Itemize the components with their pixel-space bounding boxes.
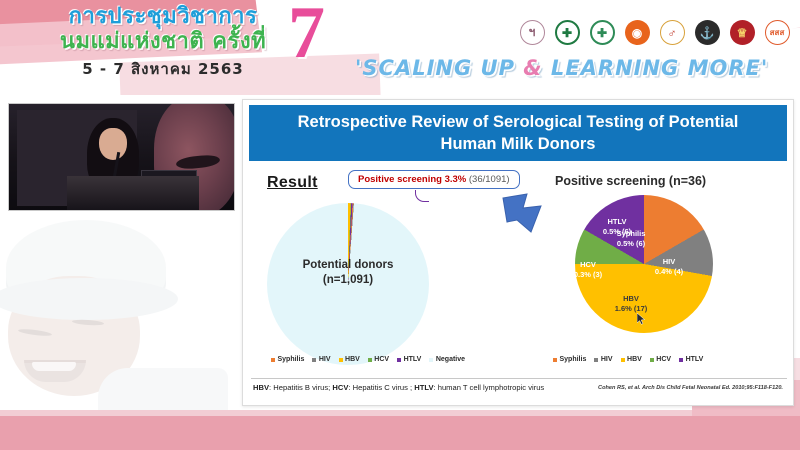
royal-garuda-emblem-logo: ♂ — [657, 20, 687, 54]
legend-positive-screening: Syphilis HIV HBV HCV HTLV — [553, 356, 703, 363]
potential-donors-line1: Potential donors — [267, 258, 429, 273]
conference-title-line2: นมแม่แห่งชาติ ครั้งที่ — [18, 29, 308, 54]
presentation-screen: การประชุมวิชาการ นมแม่แห่งชาติ ครั้งที่ … — [0, 0, 800, 450]
slide-title: Retrospective Review of Serological Test… — [249, 105, 787, 161]
result-heading: Result — [267, 174, 318, 192]
baby-watermark-image — [0, 212, 232, 436]
legend-item-htlv-right: HTLV — [679, 356, 703, 363]
callout-percentage: Positive screening 3.3% — [358, 174, 466, 185]
legend-item-hcv-right: HCV — [650, 356, 671, 363]
positive-screening-callout: Positive screening 3.3% (36/1091) — [348, 170, 520, 189]
red-crest-logo: ♕ — [727, 20, 757, 54]
mouse-cursor-icon — [637, 313, 646, 325]
conference-header-banner: การประชุมวิชาการ นมแม่แห่งชาติ ครั้งที่ … — [0, 0, 800, 95]
edition-number: 7 — [288, 0, 325, 70]
tagline-part2: LEARNING MORE' — [543, 56, 769, 80]
slice-label-hbv: HBV1.6% (17) — [601, 294, 661, 313]
speaker-face — [99, 128, 127, 160]
blue-arrow-icon — [501, 190, 547, 236]
department-health-logo: ✚ — [587, 20, 617, 54]
slice-label-hiv: HIV0.4% (4) — [643, 257, 695, 276]
conference-title-line1: การประชุมวิชาการ — [18, 4, 308, 29]
presentation-slide: Retrospective Review of Serological Test… — [242, 99, 794, 406]
abbreviation-footnote: HBV: Hepatitis B virus; HCV: Hepatitis C… — [253, 383, 544, 392]
tagline-ampersand: & — [523, 56, 542, 80]
positive-screening-chart-title: Positive screening (n=36) — [555, 174, 706, 188]
legend-item-hbv-right: HBV — [621, 356, 642, 363]
legend-item-negative: Negative — [429, 356, 465, 363]
legend-item-hiv-right: HIV — [594, 356, 612, 363]
potential-donors-line2: (n=1,091) — [267, 273, 429, 288]
legend-potential-donors: Syphilis HIV HBV HCV HTLV Negative — [271, 356, 465, 363]
royal-patronage-logo: ฯ — [517, 20, 547, 54]
conference-date: 5 - 7 สิงหาคม 2563 — [18, 57, 308, 81]
ministry-public-health-logo: ✚ — [552, 20, 582, 54]
legend-item-hbv: HBV — [339, 356, 360, 363]
legend-item-htlv: HTLV — [397, 356, 421, 363]
speaker-video-thumbnail[interactable] — [8, 103, 235, 211]
potential-donors-pie-label: Potential donors (n=1,091) — [267, 258, 429, 288]
legend-item-syphilis: Syphilis — [271, 356, 304, 363]
sponsor-logo-row: ฯ ✚ ✚ ◉ ♂ ⚓ ♕ สสส — [517, 20, 792, 54]
legend-item-hiv: HIV — [312, 356, 330, 363]
black-circle-institute-logo: ⚓ — [692, 20, 722, 54]
thai-temple-emblem-logo: ◉ — [622, 20, 652, 54]
podium — [67, 176, 199, 210]
footnote-divider — [251, 378, 787, 379]
source-citation: Cohen RS, et al. Arch Dis Child Fetal Ne… — [598, 385, 783, 391]
watermark-fade-overlay — [0, 212, 232, 436]
conference-thai-title-block: การประชุมวิชาการ นมแม่แห่งชาติ ครั้งที่ … — [18, 4, 308, 81]
legend-item-syphilis-right: Syphilis — [553, 356, 586, 363]
callout-fraction: (36/1091) — [469, 174, 510, 185]
tagline-part1: 'SCALING UP — [355, 56, 523, 80]
legend-item-hcv: HCV — [368, 356, 389, 363]
sss-foundation-logo: สสส — [762, 20, 792, 54]
conference-tagline: 'SCALING UP & LEARNING MORE' — [355, 56, 768, 80]
slice-label-htlv: HTLV0.5% (6) — [591, 217, 643, 236]
bottom-band-pink — [0, 416, 800, 450]
callout-leader-line — [415, 190, 429, 202]
slice-label-hcv: HCV0.3% (3) — [565, 260, 611, 279]
